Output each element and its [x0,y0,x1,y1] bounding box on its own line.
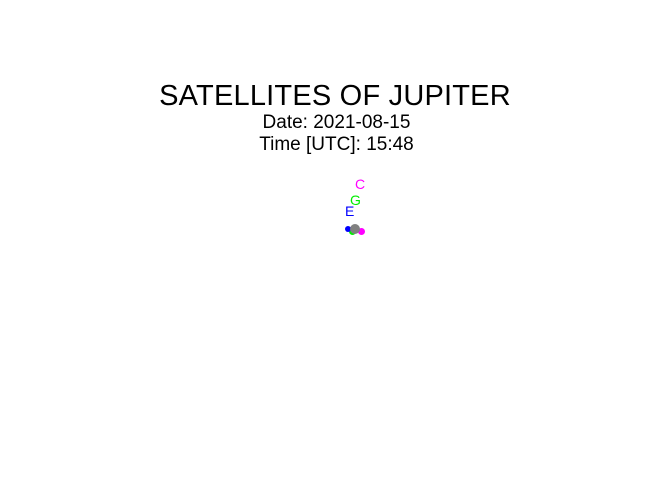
planet-disk-jupiter [350,224,360,234]
moon-label-callisto: C [355,177,365,191]
moon-label-europa: E [345,204,354,218]
satellites-of-jupiter-figure: SATELLITES OF JUPITER Date: 2021-08-15 T… [0,0,672,480]
sky-plot-area: CGE [0,0,672,480]
